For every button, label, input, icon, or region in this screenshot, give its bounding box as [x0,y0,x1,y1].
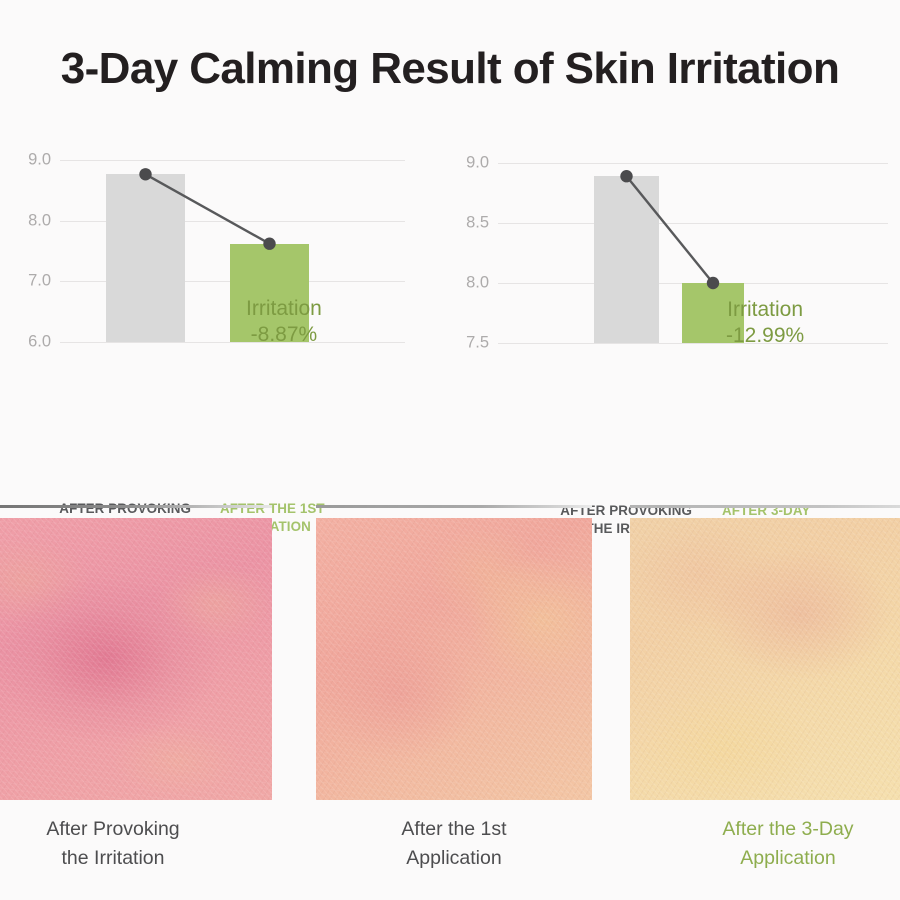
chart-panel-three-day-application: 9.0 8.5 8.0 7.5 [450,140,900,410]
caption-line2: Application [316,844,592,873]
marker-dot-start-2 [620,170,632,182]
ytick-label-9-0: 9.0 [28,151,51,170]
skin-texture-overlay [316,518,592,800]
annotation-value-1: -8.87% [246,322,322,348]
photo-caption-after-1st-application: After the 1st Application [316,815,592,873]
skin-texture-overlay [0,518,272,800]
annotation-label-2: Irritation [726,297,804,323]
skin-photo-after-3day-application [630,518,900,800]
annotation-value-2: -12.99% [726,323,804,349]
ytick-label-8-0-b: 8.0 [466,274,489,293]
skin-texture-overlay [630,518,900,800]
caption-line1: After the 1st [316,815,592,844]
gridline-7-5: 7.5 [498,343,888,344]
ytick-label-8-0: 8.0 [28,211,51,230]
page-title: 3-Day Calming Result of Skin Irritation [0,44,900,94]
plot-area-1: 9.0 8.0 7.0 6.0 [60,160,405,342]
trend-connector-2 [498,163,888,343]
chart-panel-first-application: 9.0 8.0 7.0 6.0 [0,140,450,410]
photo-caption-after-provoking: After Provoking the Irritation [0,815,272,873]
ytick-label-7-5: 7.5 [466,334,489,353]
caption-line1: After the 3-Day [630,815,900,844]
ytick-label-9-0-b: 9.0 [466,154,489,173]
photo-divider-rule [630,505,900,508]
annotation-irritation-2: Irritation -12.99% [726,297,804,348]
photo-caption-after-3day-application: After the 3-Day Application [630,815,900,873]
photo-divider-rule [316,505,592,508]
marker-dot-start-1 [139,168,151,180]
ytick-label-7-0: 7.0 [28,272,51,291]
photos-row: After Provoking the Irritation After the… [0,505,900,900]
plot-area-2: 9.0 8.5 8.0 7.5 [498,163,888,343]
annotation-label-1: Irritation [246,296,322,322]
caption-line1: After Provoking [0,815,272,844]
annotation-irritation-1: Irritation -8.87% [246,296,322,347]
caption-line2: the Irritation [0,844,272,873]
gridline-6-0: 6.0 [60,342,405,343]
ytick-label-6-0: 6.0 [28,333,51,352]
marker-dot-end-2 [707,277,719,289]
caption-line2: Application [630,844,900,873]
charts-row: 9.0 8.0 7.0 6.0 [0,140,900,410]
trend-connector-1 [60,160,405,342]
ytick-label-8-5: 8.5 [466,214,489,233]
skin-photo-after-1st-application [316,518,592,800]
skin-photo-after-provoking [0,518,272,800]
photo-divider-rule [0,505,272,508]
marker-dot-end-1 [263,238,275,250]
